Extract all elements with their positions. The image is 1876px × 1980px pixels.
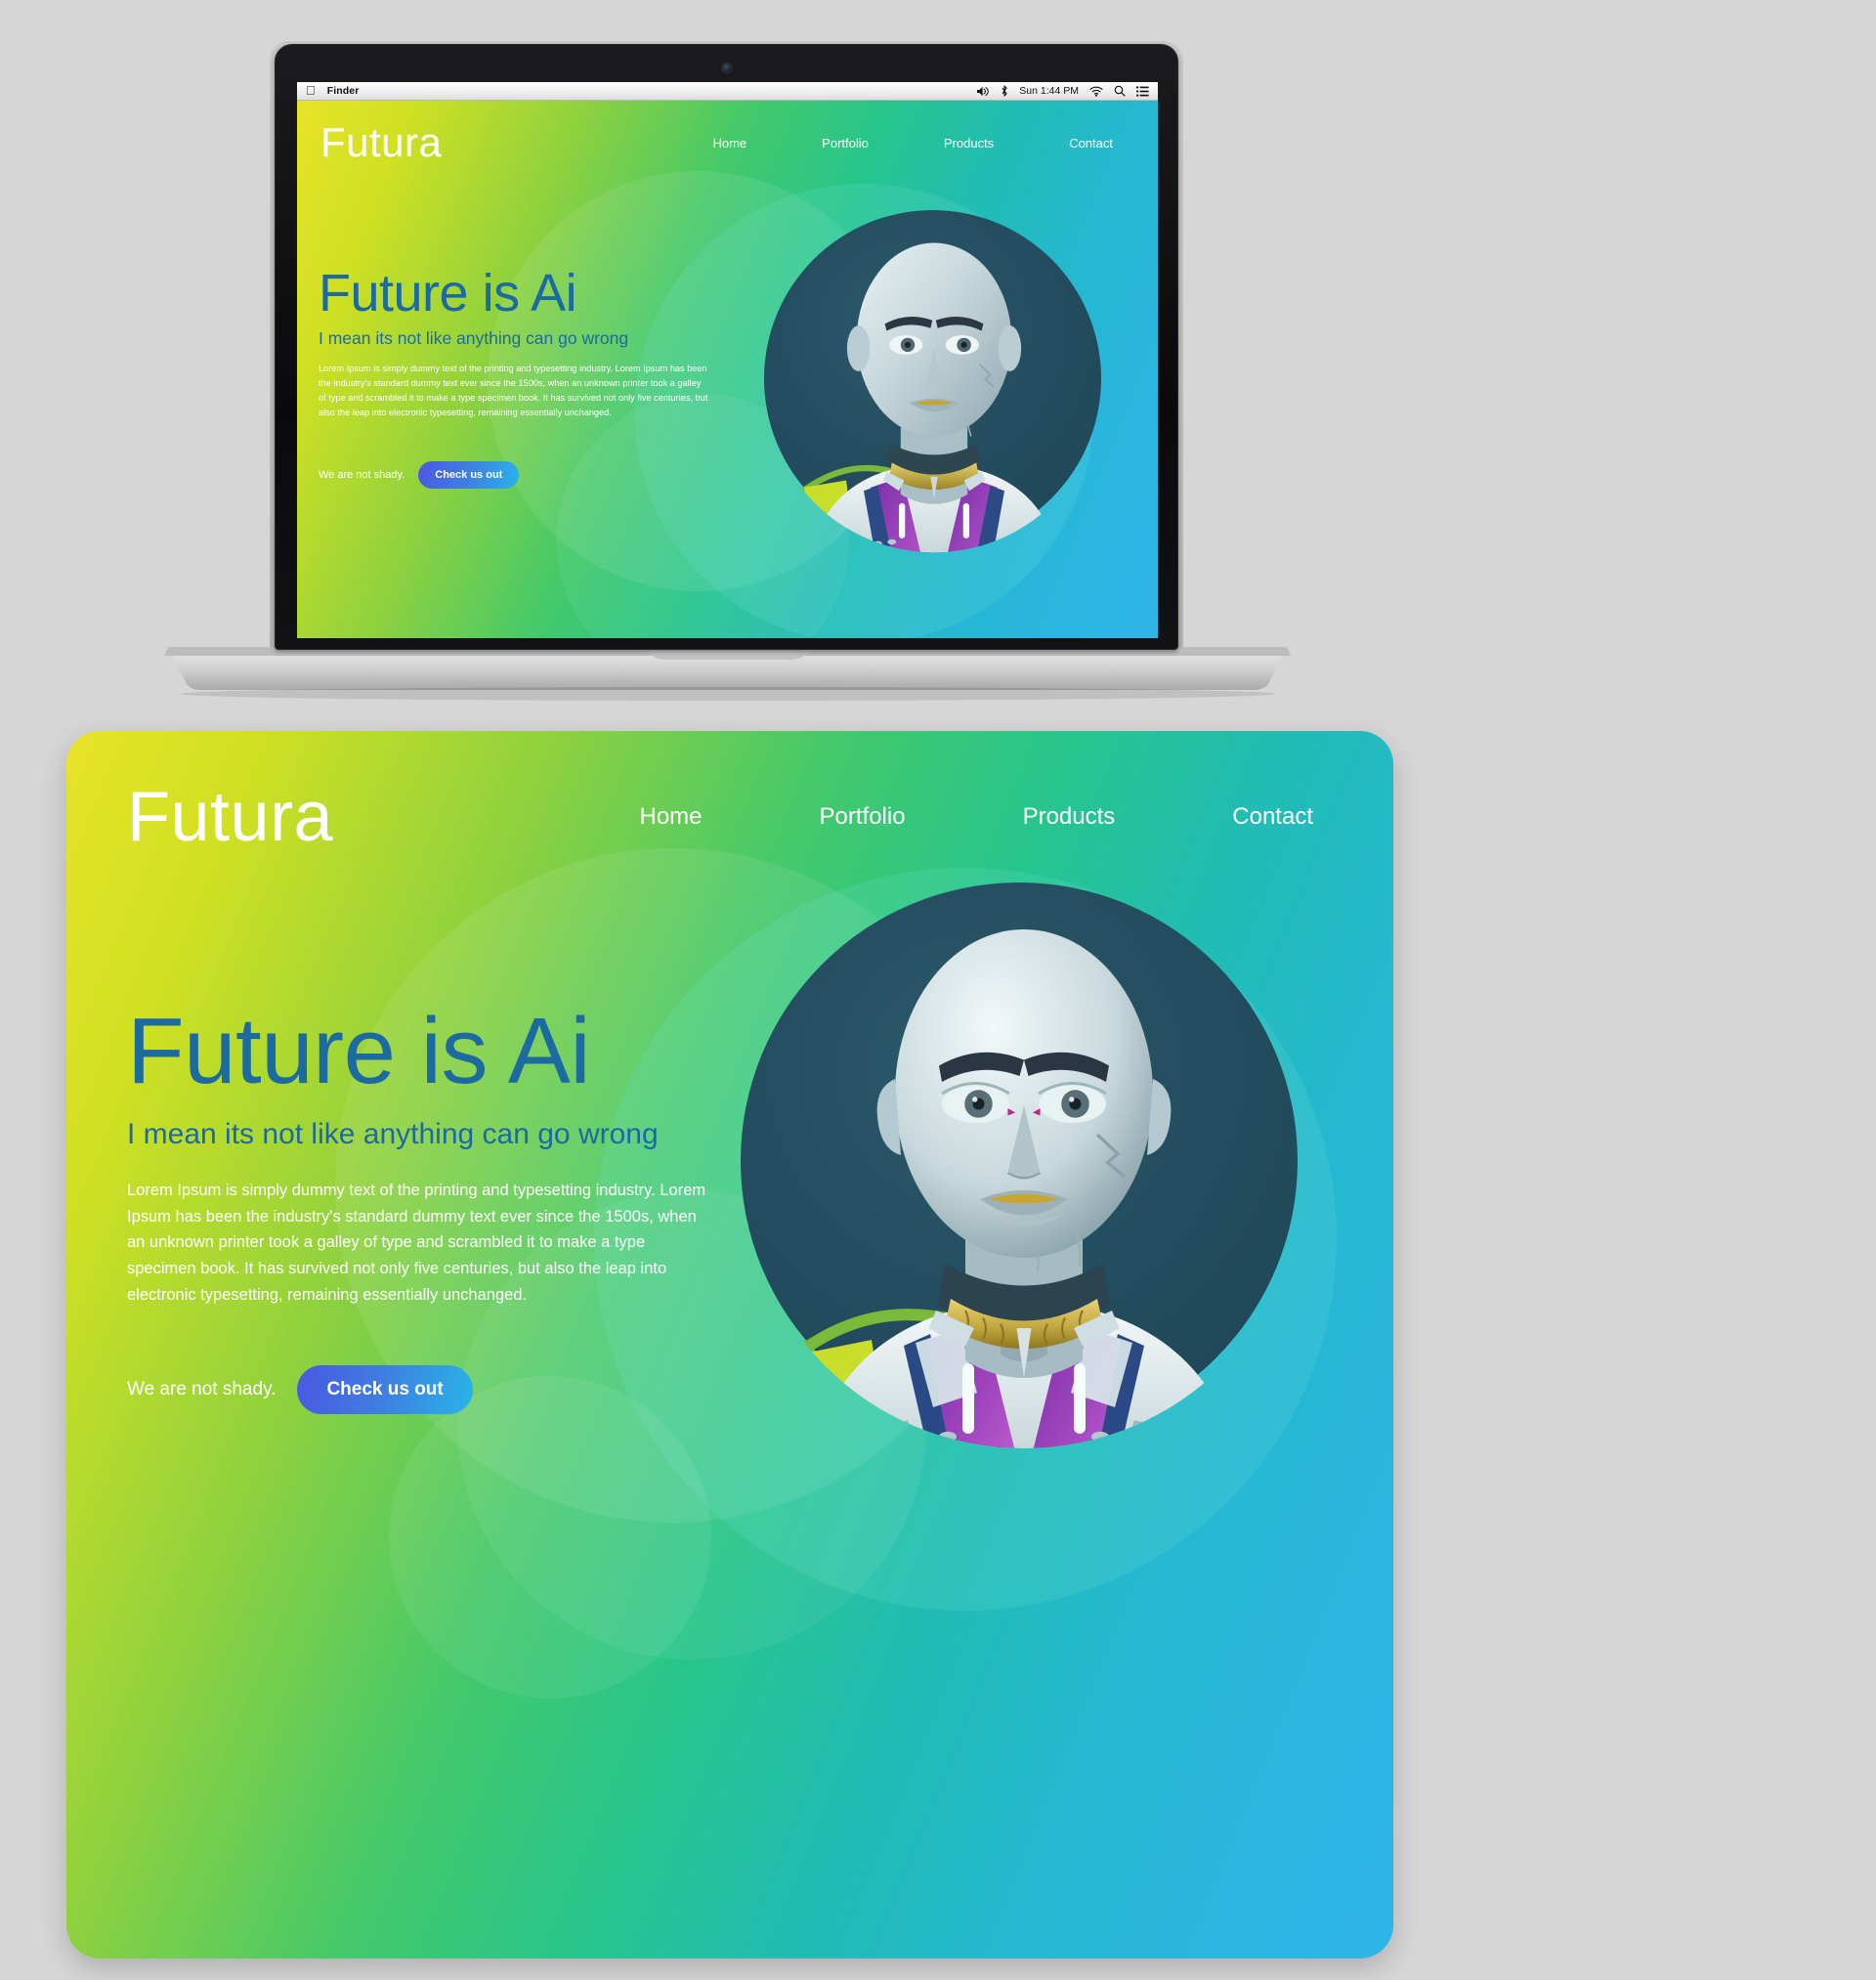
menubar-clock[interactable]: Sun 1:44 PM	[1019, 85, 1079, 97]
hero-cta-row: We are not shady. Check us out	[319, 461, 739, 489]
hero-artwork-small	[764, 210, 1101, 547]
check-us-out-button[interactable]: Check us out	[418, 461, 519, 489]
laptop-mockup-scene:  Finder Sun 1:44 PM	[0, 0, 1876, 723]
cta-note: We are not shady.	[319, 469, 405, 481]
webcam-icon	[722, 64, 731, 72]
hero-copy-small: Future is Ai I mean its not like anythin…	[319, 267, 739, 489]
nav-item-products[interactable]: Products	[1023, 803, 1116, 831]
nav-item-portfolio[interactable]: Portfolio	[822, 136, 869, 151]
apple-logo-icon[interactable]: 	[306, 84, 316, 97]
background-blob	[389, 1376, 711, 1699]
bluetooth-icon[interactable]	[1001, 85, 1008, 97]
spotlight-search-icon[interactable]	[1114, 85, 1126, 97]
brand-logo[interactable]: Futura	[320, 122, 442, 163]
android-robot-portrait	[731, 877, 1317, 1522]
hero-cta-row: We are not shady. Check us out	[127, 1365, 811, 1414]
site-navbar-large: Futura Home Portfolio Products Contact	[127, 782, 1335, 852]
nav-item-products[interactable]: Products	[944, 136, 994, 151]
hero-subheadline: I mean its not like anything can go wron…	[127, 1118, 811, 1150]
laptop-lid:  Finder Sun 1:44 PM	[275, 44, 1178, 650]
macos-menu-bar:  Finder Sun 1:44 PM	[297, 82, 1158, 101]
nav-item-home[interactable]: Home	[712, 136, 746, 151]
brand-logo[interactable]: Futura	[127, 782, 333, 852]
menubar-app-name[interactable]: Finder	[327, 85, 360, 97]
nav-item-contact[interactable]: Contact	[1232, 803, 1313, 831]
wifi-icon[interactable]	[1089, 86, 1103, 97]
hero-copy-large: Future is Ai I mean its not like anythin…	[127, 1005, 811, 1414]
nav-item-portfolio[interactable]: Portfolio	[820, 803, 906, 831]
nav-item-contact[interactable]: Contact	[1069, 136, 1113, 151]
check-us-out-button[interactable]: Check us out	[297, 1365, 472, 1414]
site-navbar: Futura Home Portfolio Products Contact	[320, 122, 1134, 163]
website-hero-large: Futura Home Portfolio Products Contact	[66, 731, 1393, 1958]
hero-subheadline: I mean its not like anything can go wron…	[319, 329, 739, 348]
volume-speaker-icon[interactable]	[977, 86, 990, 97]
laptop-screen:  Finder Sun 1:44 PM	[297, 82, 1158, 638]
nav-links: Home Portfolio Products Contact	[712, 136, 1134, 151]
nav-item-home[interactable]: Home	[639, 803, 702, 831]
hero-artwork-large	[741, 882, 1298, 1440]
cta-note: We are not shady.	[127, 1379, 276, 1400]
hero-headline: Future is Ai	[319, 267, 739, 320]
nav-links: Home Portfolio Products Contact	[639, 803, 1335, 831]
android-robot-portrait	[758, 206, 1110, 587]
hero-body-text: Lorem Ipsum is simply dummy text of the …	[319, 362, 709, 420]
hero-headline: Future is Ai	[127, 1005, 811, 1098]
website-hero-small: Futura Home Portfolio Products Contact	[297, 101, 1158, 638]
hero-body-text: Lorem Ipsum is simply dummy text of the …	[127, 1178, 713, 1309]
control-center-list-icon[interactable]	[1136, 86, 1149, 97]
